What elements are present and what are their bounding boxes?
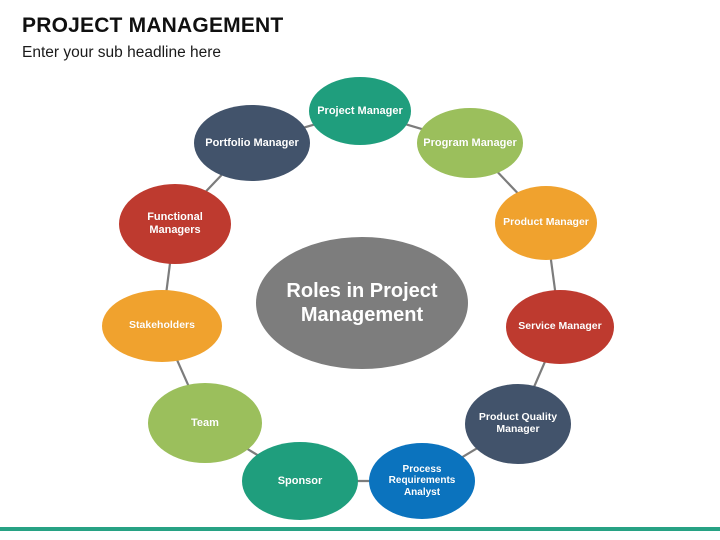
role-node-label: Product Manager [497,217,595,229]
role-node-label: Project Manager [311,105,409,118]
role-node-program-manager[interactable]: Program Manager [417,108,523,178]
center-hub-label: Roles in Project Management [256,279,468,327]
role-node-service-manager[interactable]: Service Manager [506,290,614,364]
center-hub-node[interactable]: Roles in Project Management [256,237,468,369]
role-node-portfolio-manager[interactable]: Portfolio Manager [194,105,310,181]
role-node-stakeholders[interactable]: Stakeholders [102,290,222,362]
connector-functional-managers-to-portfolio-manager [206,175,221,191]
connector-product-manager-to-service-manager [551,260,555,290]
connector-project-manager-to-program-manager [407,125,422,129]
role-node-product-quality-manager[interactable]: Product Quality Manager [465,384,571,464]
role-node-label: Stakeholders [123,320,201,332]
role-node-team[interactable]: Team [148,383,262,463]
role-node-label: Team [185,417,225,430]
connector-portfolio-manager-to-project-manager [305,125,314,128]
role-node-label: Portfolio Manager [199,137,305,150]
role-node-label: Functional Managers [119,211,231,236]
role-node-process-requirements-analyst[interactable]: Process Requirements Analyst [369,443,475,519]
role-node-product-manager[interactable]: Product Manager [495,186,597,260]
role-node-label: Product Quality Manager [465,412,571,436]
connector-program-manager-to-product-manager [498,173,517,193]
role-node-label: Service Manager [512,321,607,333]
role-node-project-manager[interactable]: Project Manager [309,77,411,145]
role-node-sponsor[interactable]: Sponsor [242,442,358,520]
roles-cycle-diagram: Roles in Project Management Project Mana… [0,0,720,540]
connector-sponsor-to-team [248,449,257,455]
connector-team-to-stakeholders [177,361,188,385]
role-node-label: Program Manager [417,137,523,150]
connector-product-quality-manager-to-process-requirements-analyst [463,449,477,457]
connector-service-manager-to-product-quality-manager [534,362,544,386]
connector-stakeholders-to-functional-managers [167,264,170,290]
role-node-functional-managers[interactable]: Functional Managers [119,184,231,264]
role-node-label: Sponsor [272,475,329,488]
footer-accent-bar [0,527,720,531]
role-node-label: Process Requirements Analyst [369,464,475,498]
